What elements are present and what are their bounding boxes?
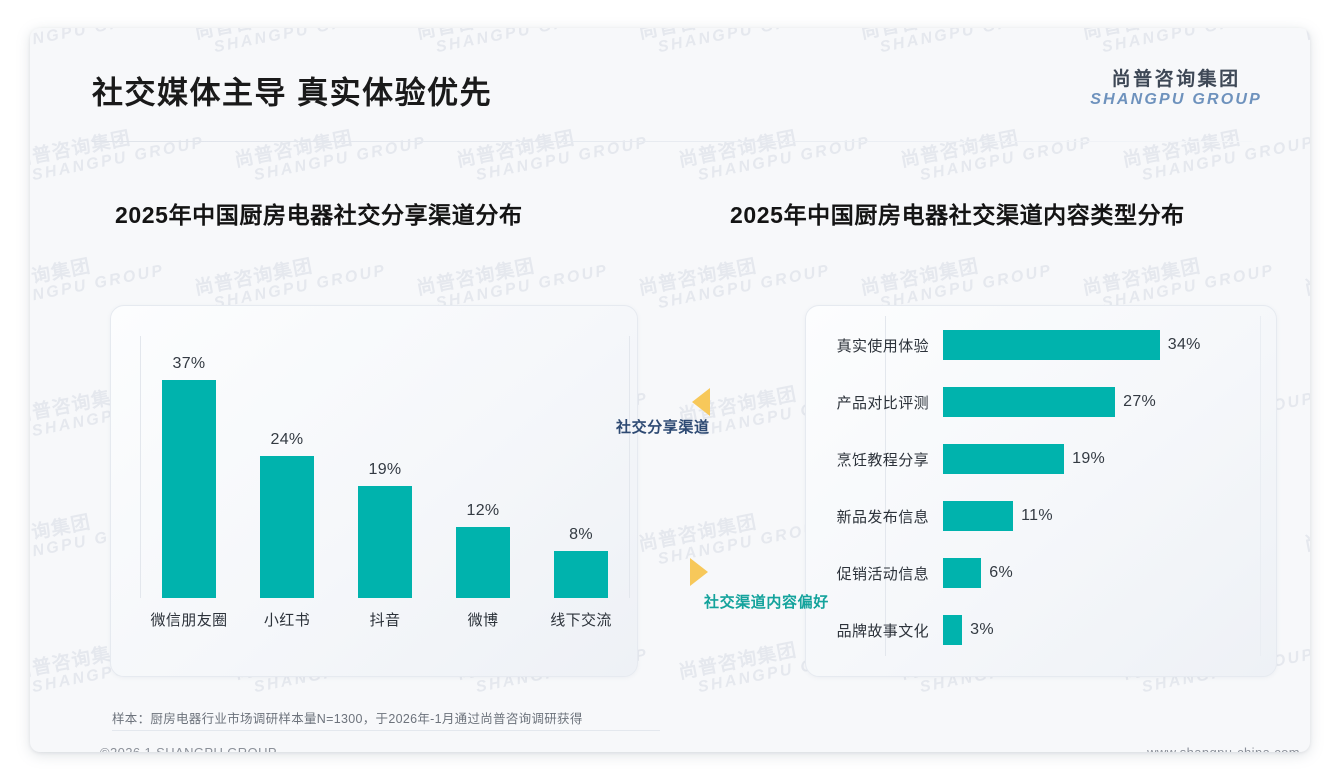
slide-canvas: 尚普咨询集团SHANGPU GROUP尚普咨询集团SHANGPU GROUP尚普… [30,28,1310,752]
bar-value-label: 8% [569,526,593,544]
slide-footer: ©2026.1 SHANGPU GROUP www.shangpu-china.… [60,731,1310,752]
triangle-right-icon [690,558,708,586]
page-title: 社交媒体主导 真实体验优先 [92,68,492,113]
left-chart-axis-right [629,336,630,598]
social-share-channel-bar-chart: 37%微信朋友圈24%小红书19%抖音12%微博8%线下交流 [140,316,630,636]
website-url[interactable]: www.shangpu-china.com [1147,745,1300,752]
bar-category-label: 新品发布信息 [825,506,943,527]
bar-category-label: 产品对比评测 [825,392,943,413]
right-chart-title: 2025年中国厨房电器社交渠道内容类型分布 [730,196,1185,230]
bar-rect [943,444,1064,474]
triangle-left-icon [692,388,710,416]
right-chart-axis [885,316,886,656]
bar-rect [943,615,962,645]
header-divider [92,141,1252,142]
bar-value-label: 34% [1168,336,1201,354]
bar-rect [260,456,314,598]
bar-row: 真实使用体验34% [825,330,1265,360]
bar-wrapper: 37% [158,336,220,598]
bar-column: 12%微博 [452,316,514,636]
bar-row: 烹饪教程分享19% [825,444,1265,474]
left-chart-axis-left [140,336,141,598]
bar-column: 37%微信朋友圈 [158,316,220,636]
bar-rect [554,551,608,598]
slide-header: 社交媒体主导 真实体验优先 尚普咨询集团 SHANGPU GROUP [30,28,1310,116]
bar-category-label: 烹饪教程分享 [825,449,943,470]
bar-value-label: 19% [369,461,402,479]
bar-rect [162,380,216,598]
bar-value-label: 12% [467,502,500,520]
right-chart-axis-right [1260,316,1261,656]
bar-wrapper: 8% [550,336,612,598]
bar-category-label: 品牌故事文化 [825,620,943,641]
brand-name-en: SHANGPU GROUP [1090,92,1262,109]
bar-category-label: 小红书 [264,609,310,630]
bar-value-label: 6% [989,564,1013,582]
bar-value-label: 37% [173,355,206,373]
bar-row: 新品发布信息11% [825,501,1265,531]
sample-footnote: 样本：厨房电器行业市场调研样本量N=1300，于2026年-1月通过尚普咨询调研… [112,708,583,727]
annotation-left-label: 社交分享渠道 [616,416,710,437]
bar-wrapper: 24% [256,336,318,598]
bar-category-label: 真实使用体验 [825,335,943,356]
copyright-text: ©2026.1 SHANGPU GROUP [100,745,277,752]
bar-value-label: 24% [271,431,304,449]
bar-category-label: 微信朋友圈 [150,609,227,630]
bar-rect [943,558,981,588]
bar-row: 品牌故事文化3% [825,615,1265,645]
bar-category-label: 抖音 [370,609,401,630]
content-type-bar-chart: 真实使用体验34%产品对比评测27%烹饪教程分享19%新品发布信息11%促销活动… [825,316,1265,664]
bar-wrapper: 19% [354,336,416,598]
brand-name-cn: 尚普咨询集团 [1090,70,1262,90]
bar-column: 19%抖音 [354,316,416,636]
bar-value-label: 19% [1072,450,1105,468]
bar-rect [943,330,1160,360]
bar-rect [943,387,1115,417]
bar-category-label: 微博 [468,609,499,630]
bar-rect [358,486,412,598]
bar-value-label: 11% [1021,507,1053,525]
bar-column: 8%线下交流 [550,316,612,636]
bar-category-label: 线下交流 [550,609,612,630]
bar-category-label: 促销活动信息 [825,563,943,584]
left-chart-title: 2025年中国厨房电器社交分享渠道分布 [115,196,523,230]
bar-rect [456,527,510,598]
bar-row: 产品对比评测27% [825,387,1265,417]
bar-rect [943,501,1013,531]
bar-column: 24%小红书 [256,316,318,636]
bar-value-label: 27% [1123,393,1156,411]
bar-row: 促销活动信息6% [825,558,1265,588]
bar-wrapper: 12% [452,336,514,598]
brand-logo: 尚普咨询集团 SHANGPU GROUP [1090,70,1262,109]
bar-value-label: 3% [970,621,994,639]
annotation-right-label: 社交渠道内容偏好 [704,591,829,612]
